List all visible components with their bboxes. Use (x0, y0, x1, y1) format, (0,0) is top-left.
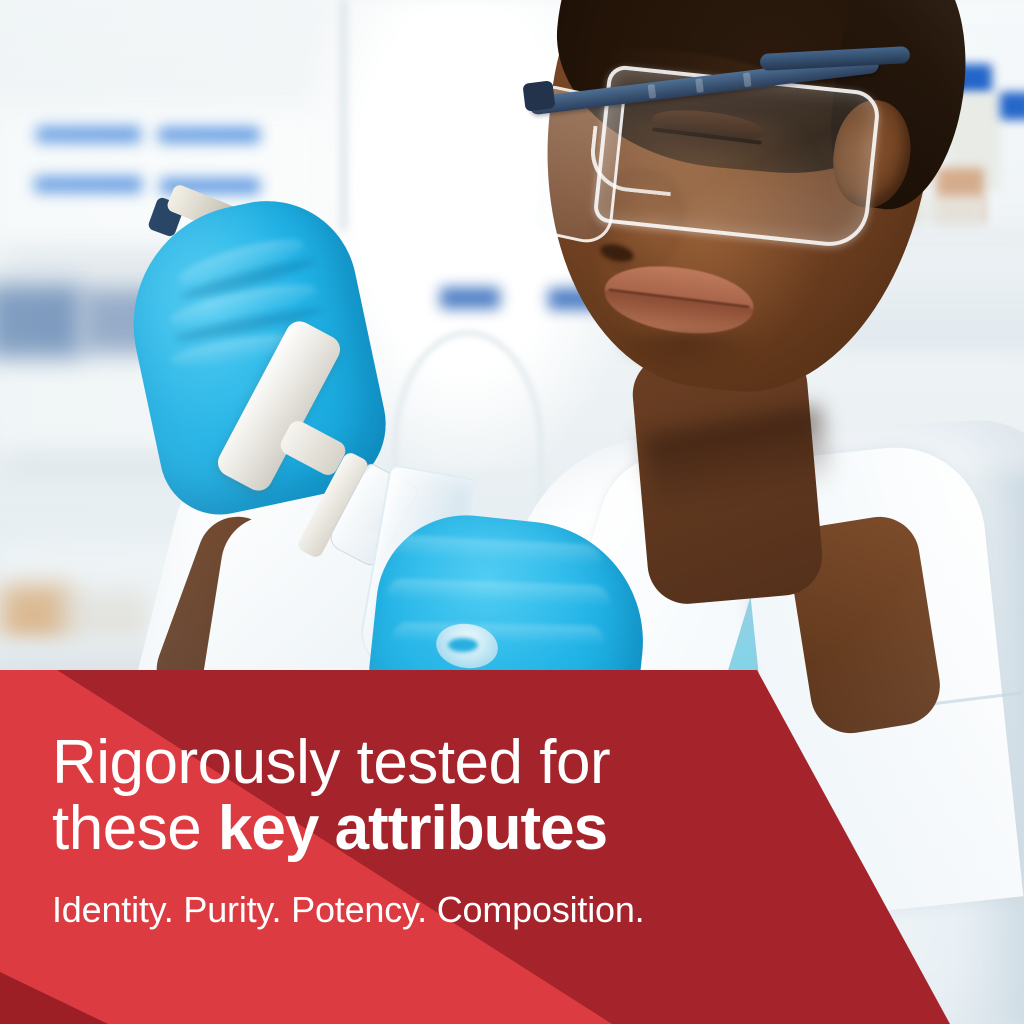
banner-image: Rigorously tested for these key attribut… (0, 0, 1024, 1024)
safety-glasses-hinge (522, 80, 555, 111)
subheadline: Identity. Purity. Potency. Composition. (52, 889, 852, 931)
vial-contents (448, 638, 478, 652)
chin-shadow (612, 334, 762, 374)
banner-text-block: Rigorously tested for these key attribut… (52, 730, 852, 931)
headline-bold-part: key attributes (218, 794, 607, 863)
headline-line-2: these key attributes (52, 796, 852, 862)
temple-notch-icon (695, 78, 704, 93)
temple-notch-icon (743, 72, 752, 87)
headline-line-1: Rigorously tested for (52, 730, 852, 796)
temple-notch-icon (648, 84, 657, 99)
headline-light-part: these (52, 794, 218, 863)
glove-finger-highlight (392, 622, 605, 658)
